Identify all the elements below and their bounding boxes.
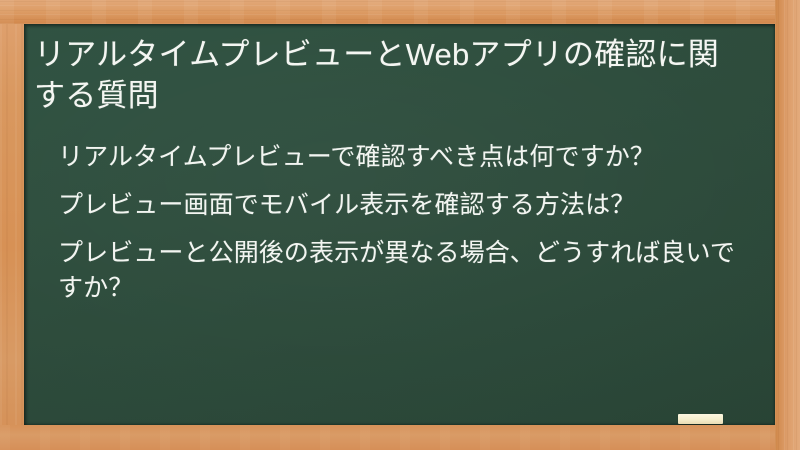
frame-rail-left [0,0,24,450]
chalkboard-surface: リアルタイムプレビューとWebアプリの確認に関する質問 リアルタイムプレビューで… [24,24,775,425]
board-content: リアルタイムプレビューとWebアプリの確認に関する質問 リアルタイムプレビューで… [24,24,775,425]
list-item: リアルタイムプレビューで確認すべき点は何ですか？ [58,140,748,175]
chalkboard-frame: リアルタイムプレビューとWebアプリの確認に関する質問 リアルタイムプレビューで… [0,0,800,450]
list-item: プレビュー画面でモバイル表示を確認する方法は？ [58,188,748,223]
chalk-stick-icon [678,414,723,424]
page-title: リアルタイムプレビューとWebアプリの確認に関する質問 [32,30,732,116]
list-item: プレビューと公開後の表示が異なる場合、どうすれば良いですか？ [58,236,748,306]
frame-rail-right [775,0,800,450]
frame-rail-top [0,0,800,24]
frame-rail-bottom [0,425,800,450]
question-list: リアルタイムプレビューで確認すべき点は何ですか？ プレビュー画面でモバイル表示を… [32,140,765,306]
